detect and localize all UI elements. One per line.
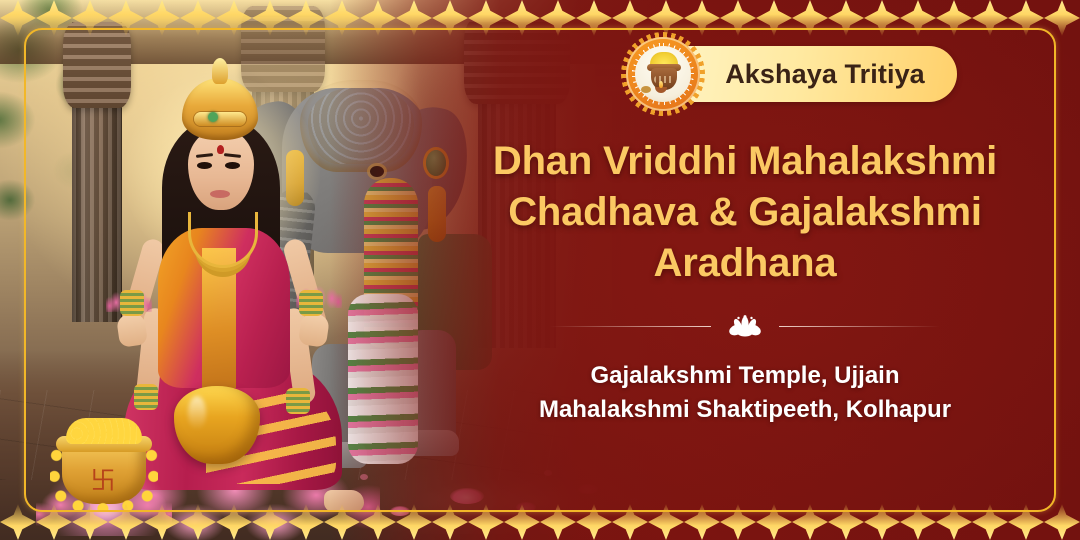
star-ornament-icon: [648, 0, 684, 36]
page-title-line-1: Dhan Vriddhi Mahalakshmi: [450, 136, 1040, 187]
star-ornament-icon: [288, 0, 324, 36]
star-ornament-icon: [828, 0, 864, 36]
star-ornament-icon: [108, 0, 144, 36]
star-ornament-icon: [648, 504, 684, 540]
event-badge[interactable]: Akshaya Tritiya: [663, 46, 957, 102]
star-ornament-icon: [36, 504, 72, 540]
star-ornament-icon: [324, 504, 360, 540]
star-ornament-icon: [504, 0, 540, 36]
star-ornament-icon: [864, 504, 900, 540]
star-ornament-icon: [180, 504, 216, 540]
event-badge-pill[interactable]: Akshaya Tritiya: [663, 46, 957, 102]
star-ornament-icon: [1044, 0, 1080, 36]
divider: [550, 315, 940, 337]
star-ornament-icon: [612, 0, 648, 36]
star-ornament-icon: [936, 0, 972, 36]
star-ornament-icon: [216, 0, 252, 36]
star-ornament-icon: [324, 0, 360, 36]
event-badge-label: Akshaya Tritiya: [725, 59, 925, 90]
star-ornament-icon: [468, 504, 504, 540]
gold-pot-medallion-icon: [621, 32, 705, 116]
star-ornament-icon: [1044, 504, 1080, 540]
star-ornament-icon: [1008, 0, 1044, 36]
divider-line-left: [550, 326, 711, 327]
star-ornament-icon: [252, 0, 288, 36]
star-ornament-icon: [0, 504, 36, 540]
star-ornament-icon: [1008, 504, 1044, 540]
star-ornament-icon: [828, 504, 864, 540]
star-ornament-icon: [396, 504, 432, 540]
star-ornament-icon: [720, 0, 756, 36]
star-ornament-icon: [108, 504, 144, 540]
star-ornament-icon: [792, 0, 828, 36]
page-title: Dhan Vriddhi Mahalakshmi Chadhava & Gaja…: [450, 136, 1040, 289]
star-ornament-icon: [252, 504, 288, 540]
star-ornament-icon: [756, 504, 792, 540]
star-ornament-icon: [144, 0, 180, 36]
venue-line-2: Mahalakshmi Shaktipeeth, Kolhapur: [450, 393, 1040, 427]
star-ornament-icon: [576, 0, 612, 36]
star-ornament-icon: [720, 504, 756, 540]
banner-content: Akshaya Tritiya Dhan Vriddhi Mahalakshmi…: [450, 46, 1040, 427]
star-ornament-icon: [684, 504, 720, 540]
star-ornament-icon: [144, 504, 180, 540]
venue-list: Gajalakshmi Temple, Ujjain Mahalakshmi S…: [450, 359, 1040, 427]
star-ornament-icon: [72, 504, 108, 540]
bottom-star-border: [0, 504, 1080, 540]
medallion-inner-circle: [635, 46, 691, 102]
star-ornament-icon: [864, 0, 900, 36]
star-ornament-icon: [36, 0, 72, 36]
star-ornament-icon: [432, 0, 468, 36]
star-ornament-icon: [504, 504, 540, 540]
star-ornament-icon: [900, 0, 936, 36]
lotus-icon: [671, 84, 685, 93]
star-ornament-icon: [396, 0, 432, 36]
star-ornament-icon: [972, 0, 1008, 36]
star-ornament-icon: [360, 0, 396, 36]
star-ornament-icon: [612, 504, 648, 540]
star-ornament-icon: [432, 504, 468, 540]
star-ornament-icon: [792, 504, 828, 540]
venue-line-1: Gajalakshmi Temple, Ujjain: [450, 359, 1040, 393]
page-title-line-2: Chadhava & Gajalakshmi: [450, 187, 1040, 238]
star-ornament-icon: [360, 504, 396, 540]
star-ornament-icon: [900, 504, 936, 540]
star-ornament-icon: [972, 504, 1008, 540]
divider-line-right: [779, 326, 940, 327]
top-star-border: [0, 0, 1080, 36]
page-title-line-3: Aradhana: [450, 238, 1040, 289]
star-ornament-icon: [0, 0, 36, 36]
star-ornament-icon: [288, 504, 324, 540]
star-ornament-icon: [540, 0, 576, 36]
star-ornament-icon: [72, 0, 108, 36]
star-ornament-icon: [468, 0, 504, 36]
lotus-icon: [725, 315, 765, 337]
star-ornament-icon: [576, 504, 612, 540]
star-ornament-icon: [216, 504, 252, 540]
star-ornament-icon: [180, 0, 216, 36]
leaf-icon: [641, 86, 651, 93]
star-ornament-icon: [540, 504, 576, 540]
star-ornament-icon: [756, 0, 792, 36]
star-ornament-icon: [684, 0, 720, 36]
star-ornament-icon: [936, 504, 972, 540]
diya-lamp-icon: [655, 87, 667, 93]
akshaya-tritiya-promo-banner: 卐 Akshaya Tritiya: [0, 0, 1080, 540]
